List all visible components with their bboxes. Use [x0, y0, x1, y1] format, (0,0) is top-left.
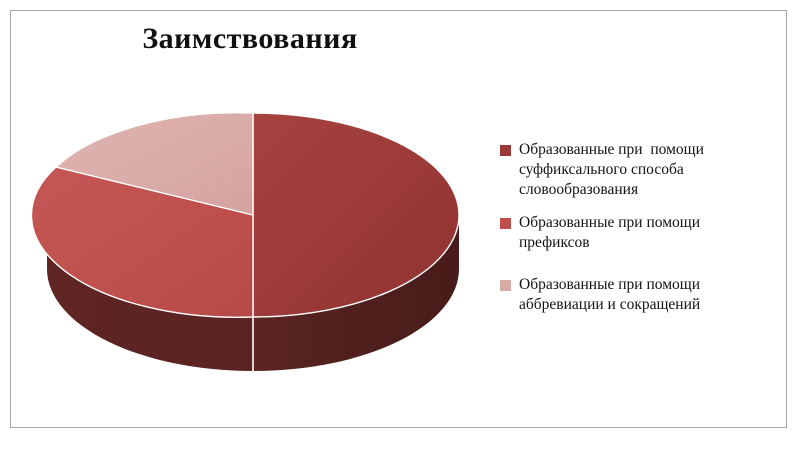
legend-swatch-icon-2 — [500, 218, 511, 229]
chart-title: Заимствования — [30, 22, 470, 56]
pie-top-surface — [31, 113, 459, 318]
chart-canvas: Заимствования — [0, 0, 801, 452]
legend-label-3: Образованные при помощи аббревиации и со… — [519, 275, 700, 315]
legend-swatch-icon-1 — [500, 145, 511, 156]
chart-legend: Образованные при помощи суффиксального с… — [500, 140, 778, 329]
legend-item-1[interactable]: Образованные при помощи суффиксального с… — [500, 140, 778, 199]
legend-item-3[interactable]: Образованные при помощи аббревиации и со… — [500, 275, 778, 315]
pie-chart-svg — [30, 95, 480, 395]
pie-chart-3d — [30, 95, 480, 395]
legend-swatch-icon-3 — [500, 280, 511, 291]
legend-label-2: Образованные при помощи префиксов — [519, 213, 700, 253]
legend-item-2[interactable]: Образованные при помощи префиксов — [500, 213, 778, 253]
legend-label-1: Образованные при помощи суффиксального с… — [519, 140, 704, 199]
